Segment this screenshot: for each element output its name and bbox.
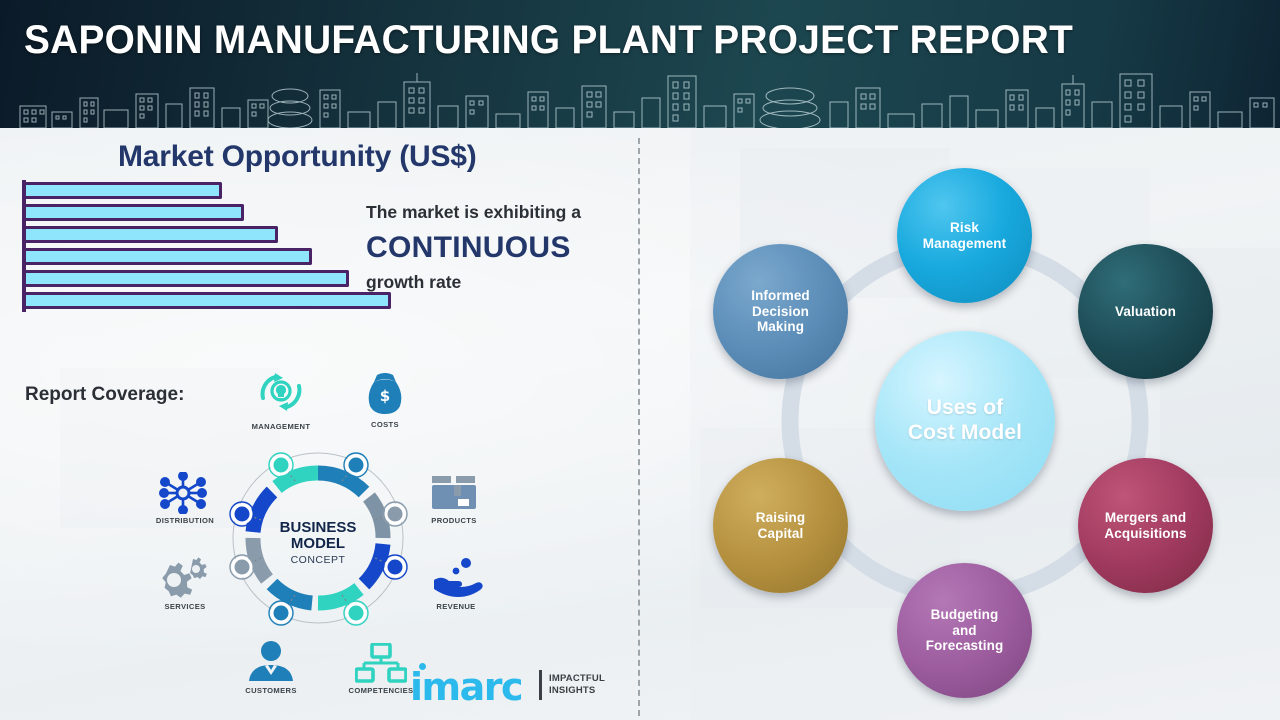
business-model-center-text: BUSINESS MODEL CONCEPT bbox=[261, 520, 375, 566]
page-title: SAPONIN MANUFACTURING PLANT PROJECT REPO… bbox=[24, 18, 1073, 63]
costs-icon: $ bbox=[345, 370, 425, 422]
products-icon-label: PRODUCTS bbox=[407, 516, 501, 525]
statement-line-2: growth rate bbox=[366, 272, 634, 293]
node-informed-line1: Informed bbox=[751, 288, 810, 303]
node-raising-line1: Raising bbox=[756, 510, 805, 525]
revenue-icon-label: REVENUE bbox=[409, 602, 503, 611]
imarc-logo-wordmark: imarc bbox=[410, 668, 522, 706]
node-raising-capital[interactable]: Raising Capital bbox=[713, 458, 848, 593]
imarc-tagline-line1: IMPACTFUL bbox=[549, 673, 605, 685]
products-icon bbox=[419, 472, 489, 520]
chart-bar bbox=[26, 226, 278, 243]
growth-statement: The market is exhibiting a CONTINUOUS gr… bbox=[366, 202, 634, 293]
panel-divider bbox=[638, 138, 640, 716]
node-valuation-line1: Valuation bbox=[1115, 304, 1176, 319]
chart-bar bbox=[26, 204, 244, 221]
chart-bar bbox=[26, 182, 222, 199]
city-skyline-graphic bbox=[0, 68, 1280, 128]
node-mergers-line2: Acquisitions bbox=[1104, 526, 1186, 541]
bm-center-line-1: BUSINESS bbox=[261, 520, 375, 536]
cost-model-diagram: Risk Management Valuation Mergers and Ac… bbox=[660, 128, 1280, 720]
node-budgeting-forecasting[interactable]: Budgeting and Forecasting bbox=[897, 563, 1032, 698]
node-informed-line3: Making bbox=[757, 319, 804, 334]
svg-text:$: $ bbox=[380, 387, 390, 405]
node-informed-line2: Decision bbox=[752, 304, 809, 319]
node-raising-line2: Capital bbox=[758, 526, 804, 541]
cost-model-center-line1: Uses of bbox=[927, 396, 1004, 419]
distribution-icon bbox=[147, 472, 219, 520]
node-mergers-acquisitions[interactable]: Mergers and Acquisitions bbox=[1078, 458, 1213, 593]
distribution-icon-label: DISTRIBUTION bbox=[135, 516, 235, 525]
bm-center-line-2: MODEL bbox=[261, 536, 375, 552]
bm-center-line-3: CONCEPT bbox=[261, 554, 375, 566]
cost-model-center-line2: Cost Model bbox=[908, 421, 1022, 444]
management-icon bbox=[231, 368, 331, 426]
chart-bar bbox=[26, 270, 349, 287]
services-icon bbox=[147, 556, 217, 606]
page-header: SAPONIN MANUFACTURING PLANT PROJECT REPO… bbox=[0, 0, 1280, 128]
statement-emphasis: CONTINUOUS bbox=[366, 231, 634, 265]
node-mergers-line1: Mergers and bbox=[1105, 510, 1186, 525]
statement-line-1: The market is exhibiting a bbox=[366, 202, 634, 224]
costs-icon-label: COSTS bbox=[335, 420, 435, 429]
node-budgeting-line1: Budgeting bbox=[931, 607, 999, 622]
business-model-diagram: BUSINESS MODEL CONCEPT MANAGEMENT $ bbox=[143, 368, 493, 708]
management-icon-label: MANAGEMENT bbox=[221, 422, 341, 431]
customers-icon-label: CUSTOMERS bbox=[221, 686, 321, 695]
node-budgeting-line3: Forecasting bbox=[926, 638, 1004, 653]
market-opportunity-title: Market Opportunity (US$) bbox=[118, 140, 477, 174]
market-opportunity-chart bbox=[22, 180, 402, 312]
customers-icon bbox=[231, 640, 311, 688]
imarc-logo-tagline: IMPACTFUL INSIGHTS bbox=[549, 673, 605, 697]
revenue-icon bbox=[421, 556, 491, 606]
node-risk-management-line1: Risk bbox=[950, 220, 979, 235]
node-informed-decision-making[interactable]: Informed Decision Making bbox=[713, 244, 848, 379]
chart-bar bbox=[26, 248, 312, 265]
slide-body: Market Opportunity (US$) The market is e… bbox=[0, 128, 1280, 720]
competencies-icon bbox=[341, 643, 421, 689]
node-risk-management-line2: Management bbox=[923, 236, 1007, 251]
node-risk-management[interactable]: Risk Management bbox=[897, 168, 1032, 303]
node-valuation[interactable]: Valuation bbox=[1078, 244, 1213, 379]
cost-model-center[interactable]: Uses of Cost Model bbox=[875, 331, 1055, 511]
chart-bar bbox=[26, 292, 391, 309]
node-budgeting-line2: and bbox=[952, 623, 976, 638]
services-icon-label: SERVICES bbox=[139, 602, 231, 611]
imarc-tagline-line2: INSIGHTS bbox=[549, 685, 605, 697]
imarc-logo-divider bbox=[539, 670, 542, 700]
imarc-logo: imarc IMPACTFUL INSIGHTS bbox=[410, 662, 610, 712]
